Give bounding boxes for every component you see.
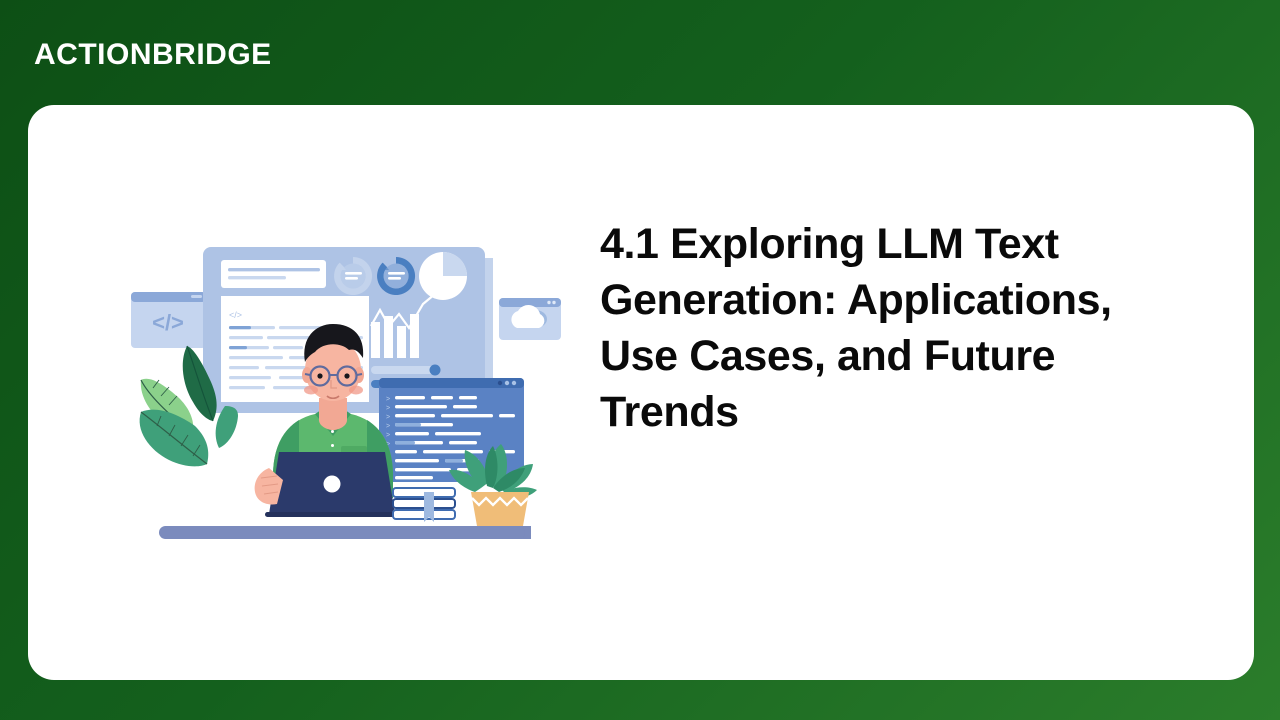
brand-logo: ACTIONBRIDGE bbox=[34, 38, 272, 72]
book-stack bbox=[393, 488, 455, 522]
code-tag-window: </> bbox=[131, 292, 206, 348]
svg-text:>: > bbox=[386, 423, 390, 430]
svg-text:>: > bbox=[386, 432, 390, 439]
svg-text:</>: </> bbox=[152, 310, 184, 335]
content-card: </> bbox=[28, 105, 1254, 680]
svg-text:>: > bbox=[386, 414, 390, 421]
desk bbox=[159, 526, 531, 539]
developer-at-desk-illustration: </> bbox=[83, 230, 563, 550]
svg-text:>: > bbox=[386, 405, 390, 412]
svg-text:>: > bbox=[386, 396, 390, 403]
laptop bbox=[265, 452, 399, 517]
slider-control-upper bbox=[371, 365, 441, 376]
svg-text:</>: </> bbox=[229, 310, 242, 320]
cloud-upload-window bbox=[499, 298, 561, 340]
page-title: 4.1 Exploring LLM Text Generation: Appli… bbox=[600, 217, 1200, 441]
laptop-logo bbox=[324, 476, 341, 493]
pie-chart bbox=[419, 252, 467, 300]
brand-bar: ACTIONBRIDGE bbox=[0, 0, 1280, 105]
search-field bbox=[221, 260, 326, 288]
